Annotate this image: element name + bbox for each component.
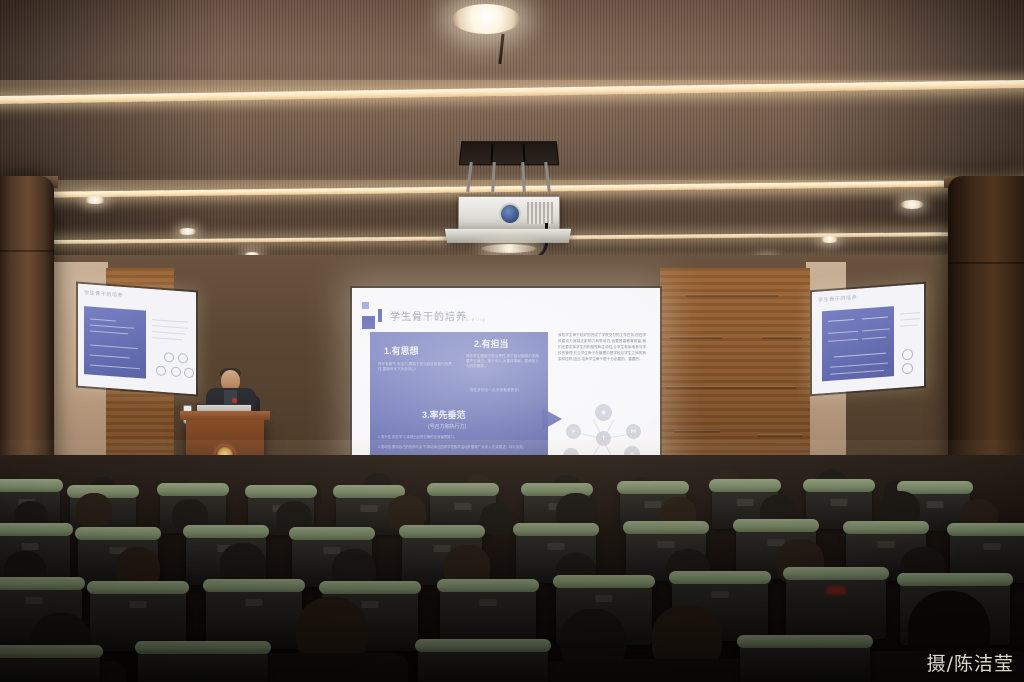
slide-item3-heading: 3.率先垂范 [422, 408, 466, 421]
left-screen-title: 学生骨干的培养 [84, 289, 123, 299]
projector-underlight [482, 244, 536, 253]
share-icon: ⋈ [626, 424, 641, 439]
ceiling-projector [452, 140, 562, 250]
seat [740, 641, 870, 682]
seat [786, 573, 886, 639]
right-projection-screen: 学生骨干的培养 [812, 284, 924, 394]
slide-item3-subtitle: (号召力和执行力) [428, 424, 466, 431]
right-screen-title: 学生骨干的培养 [818, 294, 857, 304]
left-projection-screen: 学生骨干的培养 [78, 284, 196, 395]
location-icon: ◉ [595, 404, 612, 421]
slide-right-paragraph: 我校学生骨干较好的完成了学院交付的工作任务,但在学风建设方面缺乏影响力和带动力,… [558, 332, 646, 363]
left-screen-slide: 学生骨干的培养 [78, 284, 196, 395]
projector-body [458, 196, 560, 232]
projector-vent [527, 202, 553, 224]
main-projection-screen: 学生骨干的培养 Student Cadre Training 1.有思想 青年有… [352, 288, 660, 480]
seat-number-plate [828, 587, 845, 594]
slide-subtitle: Student Cadre Training [408, 317, 486, 322]
ceiling-spot-icon [178, 228, 197, 235]
send-icon: ➤ [566, 424, 581, 439]
seat [138, 647, 268, 682]
slide-item1-text: 青年有朝气 有活力,要敢于担当起民族复兴的责任,要胸怀天下多多关心! [378, 362, 454, 372]
title-square-small-icon [362, 302, 369, 309]
seat [0, 651, 100, 682]
title-bar-icon [378, 309, 382, 322]
ceiling-spot-icon [900, 200, 924, 209]
audience-shoulder [252, 653, 408, 682]
slide-item2-heading: 2.有担当 [474, 337, 509, 350]
ceiling-spot-icon [820, 236, 839, 243]
ceiling-downlight-icon [452, 4, 520, 34]
title-square-large-icon [362, 316, 375, 329]
ceiling-spot-icon [84, 196, 106, 204]
slide-item2-text2: 现在多付出一点,未来就收获多! [470, 388, 538, 393]
upload-icon: ⬆ [596, 431, 611, 446]
podium-top-surface [180, 411, 270, 420]
seat [418, 645, 548, 682]
right-screen-slide: 学生骨干的培养 [812, 284, 924, 394]
slide-item1-heading: 1.有思想 [384, 344, 419, 357]
audience-seating-area [0, 455, 1024, 682]
audience-head [76, 493, 112, 527]
photo-watermark: 摄/陈洁莹 [927, 649, 1014, 676]
presentation-slide: 学生骨干的培养 Student Cadre Training 1.有思想 青年有… [352, 288, 660, 480]
audience-head [480, 503, 514, 535]
projector-lens-icon [499, 203, 521, 225]
slide-item2-text: 青年学生要敢于担当责任,勇于面对困难不退缩,要严于律己、宽于待人,为集体奉献、要… [466, 354, 540, 370]
auditorium-photo: 学生骨干的培养 学生骨干的培养 [0, 0, 1024, 682]
speaker-badge-icon [232, 398, 237, 403]
seat [206, 585, 302, 649]
slide-title-row: 学生骨干的培养 [362, 302, 467, 329]
slide-callout-tail [542, 408, 562, 430]
slide-blue-box: 1.有思想 青年有朝气 有活力,要敢于担当起民族复兴的责任,要胸怀天下多多关心!… [370, 332, 548, 460]
slide-item3-line2: 2.带动性:要用自己的热情与实干,带动身边的同学把各项活动开展得广大深入,扎实推… [378, 445, 540, 450]
projector-mount-shelf [445, 229, 571, 243]
slide-item3-line1: 1.带头性:刻苦学习,体现出自觉自律的自我管理能力。 [378, 435, 540, 440]
projector-rods [466, 162, 550, 194]
